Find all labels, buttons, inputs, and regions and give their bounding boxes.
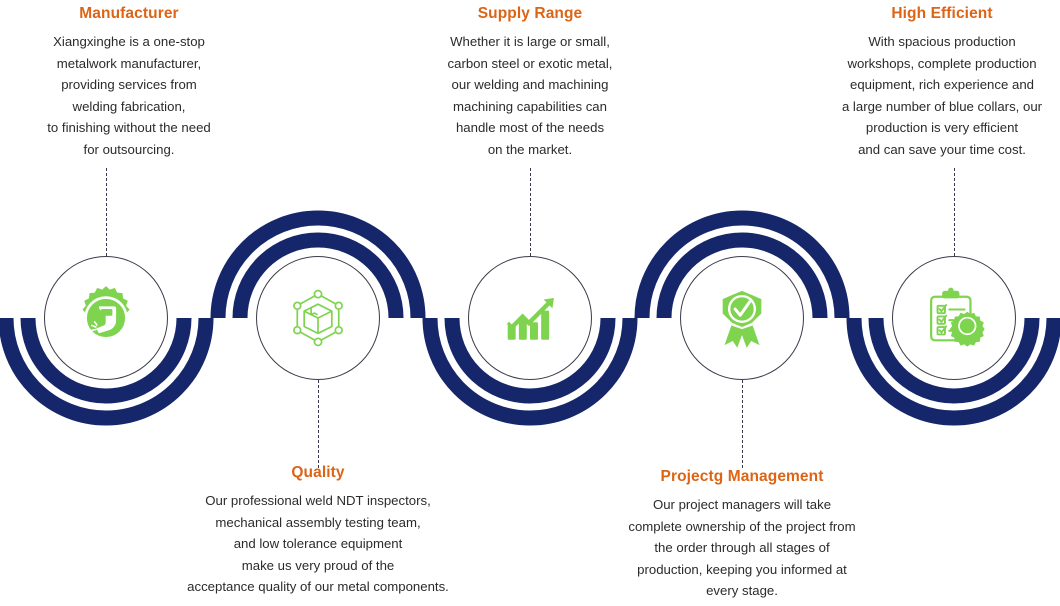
block-title-quality: Quality (140, 463, 496, 483)
welding-helmet-gear-icon (72, 284, 140, 352)
body-line: machining capabilities can (404, 96, 656, 118)
connector-quality (318, 380, 319, 468)
infographic-canvas: Manufacturer Xiangxinghe is a one-stop m… (0, 0, 1060, 606)
block-title-project-management: Projectg Management (588, 467, 896, 487)
body-line: production, keeping you informed at (588, 559, 896, 581)
block-supply-range: Supply Range Whether it is large or smal… (404, 4, 656, 160)
body-line: and low tolerance equipment (140, 533, 496, 555)
block-body-manufacturer: Xiangxinghe is a one-stop metalwork manu… (0, 31, 258, 160)
connector-manufacturer (106, 168, 107, 256)
node-manufacturer[interactable] (44, 256, 168, 380)
body-line: acceptance quality of our metal componen… (140, 576, 496, 598)
connector-high-efficient (954, 168, 955, 256)
connector-project-management (742, 380, 743, 468)
block-body-quality: Our professional weld NDT inspectors, me… (140, 490, 496, 598)
body-line: production is very efficient (824, 117, 1060, 139)
body-line: make us very proud of the (140, 555, 496, 577)
body-line: mechanical assembly testing team, (140, 512, 496, 534)
block-project-management: Projectg Management Our project managers… (588, 467, 896, 602)
body-line: carbon steel or exotic metal, (404, 53, 656, 75)
block-manufacturer: Manufacturer Xiangxinghe is a one-stop m… (0, 4, 258, 160)
body-line: Our professional weld NDT inspectors, (140, 490, 496, 512)
block-body-high-efficient: With spacious production workshops, comp… (824, 31, 1060, 160)
block-quality: Quality Our professional weld NDT inspec… (140, 463, 496, 598)
body-line: equipment, rich experience and (824, 74, 1060, 96)
body-line: the order through all stages of (588, 537, 896, 559)
block-title-high-efficient: High Efficient (824, 4, 1060, 24)
body-line: our welding and machining (404, 74, 656, 96)
node-quality[interactable] (256, 256, 380, 380)
body-line: every stage. (588, 580, 896, 602)
body-line: for outsourcing. (0, 139, 258, 161)
body-line: providing services from (0, 74, 258, 96)
body-line: With spacious production (824, 31, 1060, 53)
node-project-management[interactable] (680, 256, 804, 380)
body-line: on the market. (404, 139, 656, 161)
body-line: metalwork manufacturer, (0, 53, 258, 75)
growth-chart-arrow-icon (496, 284, 564, 352)
cube-network-icon (284, 284, 352, 352)
body-line: to finishing without the need (0, 117, 258, 139)
block-body-supply-range: Whether it is large or small, carbon ste… (404, 31, 656, 160)
body-line: handle most of the needs (404, 117, 656, 139)
award-ribbon-check-icon (708, 284, 776, 352)
body-line: Whether it is large or small, (404, 31, 656, 53)
body-line: a large number of blue collars, our (824, 96, 1060, 118)
block-title-supply-range: Supply Range (404, 4, 656, 24)
block-high-efficient: High Efficient With spacious production … (824, 4, 1060, 160)
clipboard-checklist-gear-icon (920, 284, 988, 352)
connector-supply-range (530, 168, 531, 256)
block-title-manufacturer: Manufacturer (0, 4, 258, 24)
block-body-project-management: Our project managers will take complete … (588, 494, 896, 602)
node-high-efficient[interactable] (892, 256, 1016, 380)
node-supply-range[interactable] (468, 256, 592, 380)
body-line: Xiangxinghe is a one-stop (0, 31, 258, 53)
body-line: welding fabrication, (0, 96, 258, 118)
body-line: Our project managers will take (588, 494, 896, 516)
body-line: complete ownership of the project from (588, 516, 896, 538)
body-line: workshops, complete production (824, 53, 1060, 75)
body-line: and can save your time cost. (824, 139, 1060, 161)
